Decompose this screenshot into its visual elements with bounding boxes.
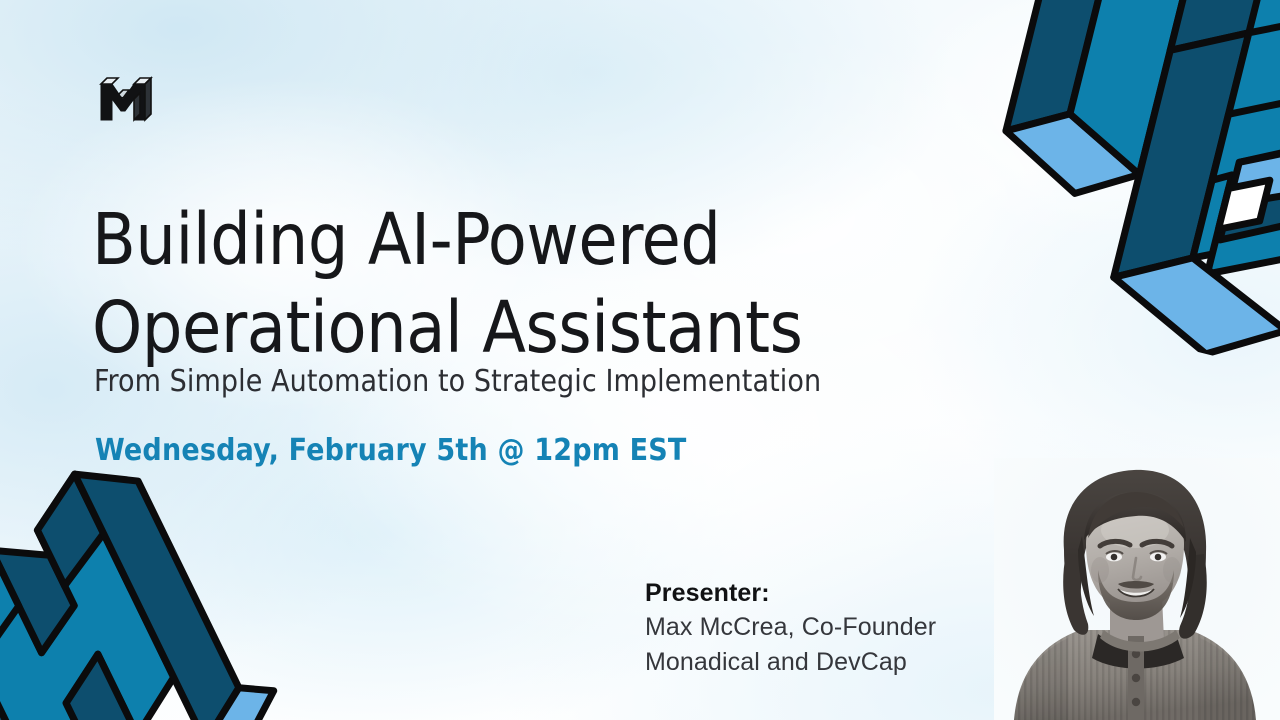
title-line-1: Building AI-Powered xyxy=(92,196,952,284)
presenter-companies: Monadical and DevCap xyxy=(645,645,985,680)
page-title: Building AI-Powered Operational Assistan… xyxy=(92,196,952,372)
title-line-2: Operational Assistants xyxy=(92,284,952,372)
monadical-m-logo-icon xyxy=(95,68,157,130)
webinar-slide: Building AI-Powered Operational Assistan… xyxy=(0,0,1280,720)
subtitle: From Simple Automation to Strategic Impl… xyxy=(94,362,821,402)
event-datetime: Wednesday, February 5th @ 12pm EST xyxy=(95,431,687,471)
presenter-block: Presenter: Max McCrea, Co-Founder Monadi… xyxy=(645,576,985,680)
presenter-label: Presenter: xyxy=(645,576,985,610)
presenter-name-role: Max McCrea, Co-Founder xyxy=(645,610,985,645)
avatar xyxy=(994,458,1280,720)
